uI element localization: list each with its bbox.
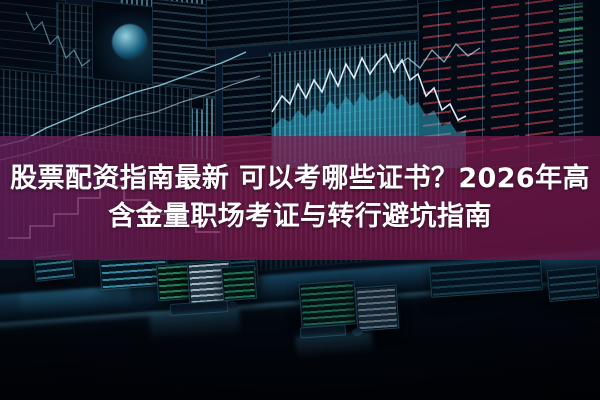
desk-monitor-green-right: [221, 265, 257, 301]
wall-monitor-5: [288, 0, 418, 44]
title-line-1: 股票配资指南最新 可以考哪些证书？2026年高: [10, 164, 590, 194]
banner-title: 股票配资指南最新 可以考哪些证书？2026年高 含金量职场考证与转行避坑指南: [0, 136, 600, 260]
article-hero-banner: 股票配资指南最新 可以考哪些证书？2026年高 含金量职场考证与转行避坑指南: [0, 0, 600, 400]
globe-graphic: [112, 24, 148, 60]
laptop-screen-right: [547, 266, 600, 302]
desk-monitor-right-2: [355, 285, 400, 332]
title-line-2: 含金量职场考证与转行避坑指南: [108, 202, 492, 232]
desk-monitor-right-1: [299, 280, 358, 328]
